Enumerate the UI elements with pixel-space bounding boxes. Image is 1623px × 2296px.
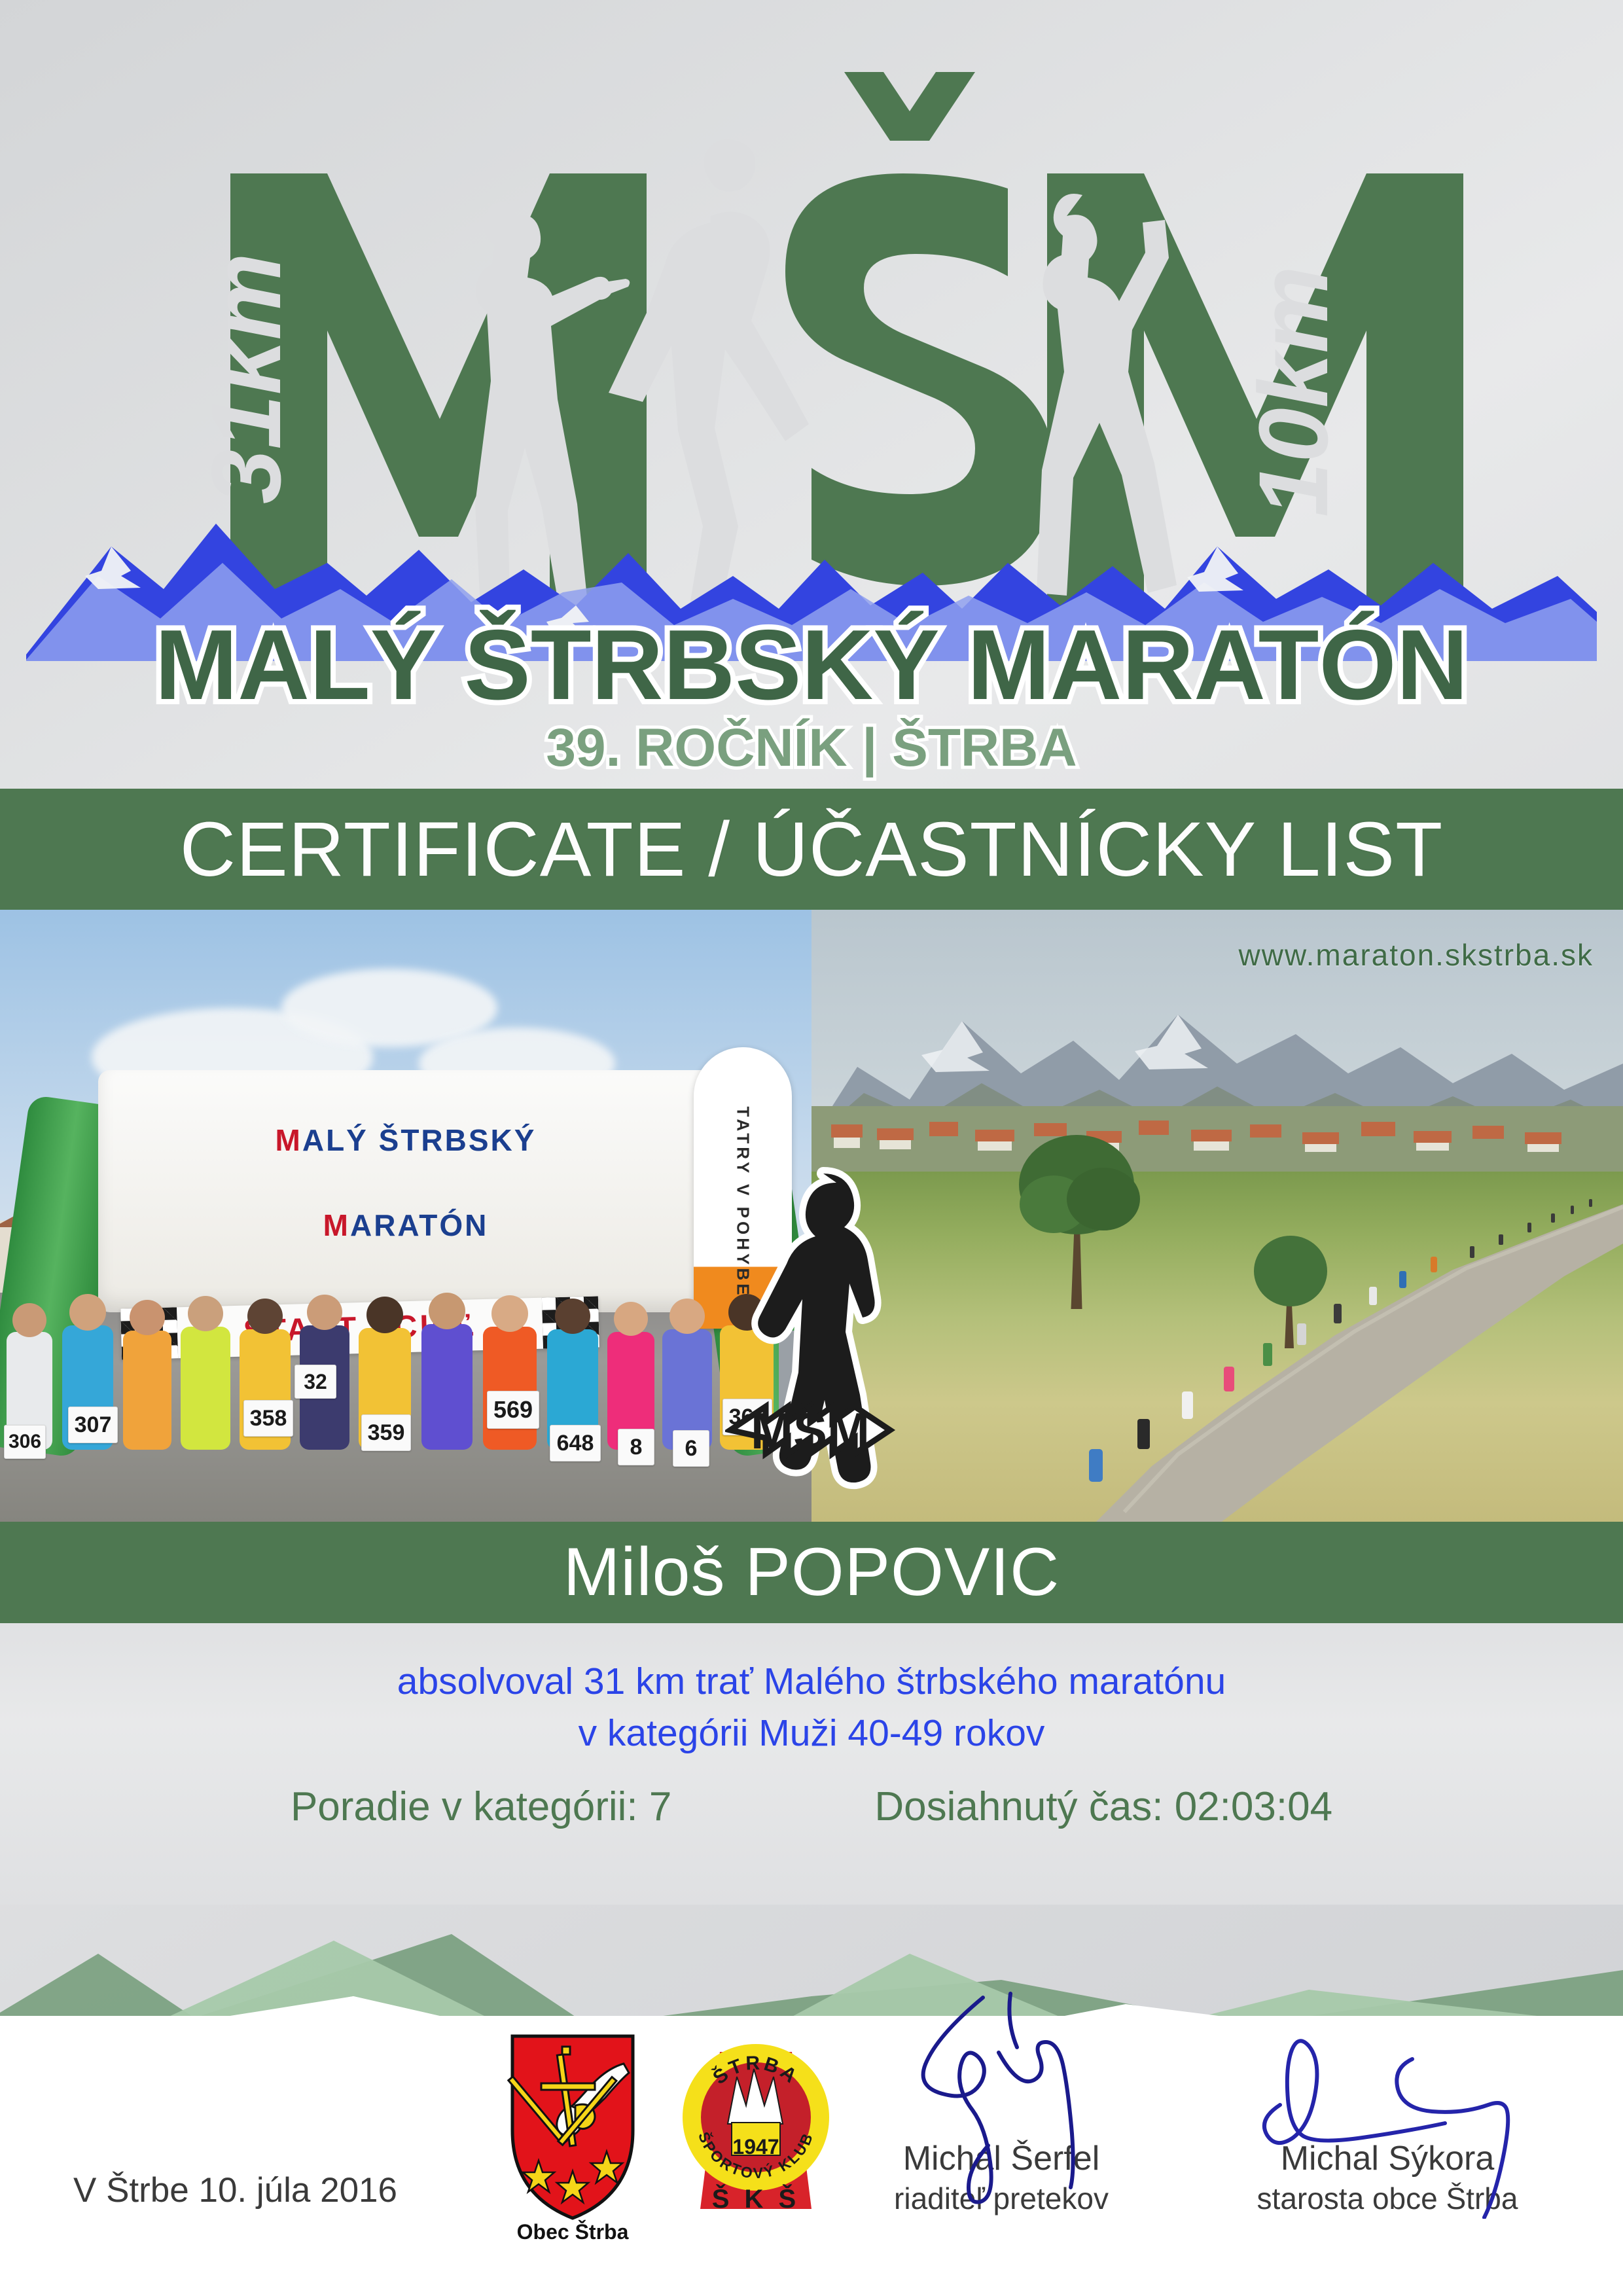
msm-runner-emblem: MŠM xyxy=(725,1162,921,1496)
event-logo-block: 31km 10km xyxy=(0,0,1623,789)
logo-letter-s-middle xyxy=(785,72,1054,586)
bib-number: 306 xyxy=(4,1425,46,1459)
signature-mark-mayor xyxy=(1230,2003,1544,2219)
tree-large xyxy=(1008,1113,1152,1309)
finish-time: Dosiahnutý čas: 02:03:04 xyxy=(874,1784,1332,1830)
club-initials: Š K Š xyxy=(712,2183,800,2214)
certificate-page: 31km 10km xyxy=(0,0,1623,2296)
obec-strba-coat-of-arms xyxy=(507,2032,638,2222)
bib-number: 8 xyxy=(618,1429,654,1465)
event-title-text: MALÝ ŠTRBSKÝ MARATÓN xyxy=(155,609,1469,721)
category-rank: Poradie v kategórii: 7 xyxy=(291,1784,671,1830)
logo-graphic: 31km 10km xyxy=(0,0,1623,789)
obec-strba-label: Obec Štrba xyxy=(507,2220,638,2244)
description-line-2: v kategórii Muži 40-49 rokov xyxy=(0,1708,1623,1759)
logo-distance-right-text: 10km xyxy=(1238,266,1348,517)
bib-number: 6 xyxy=(673,1430,709,1467)
arch-title-line1-accent: M xyxy=(276,1123,302,1157)
website-watermark: www.maraton.skstrba.sk xyxy=(1239,937,1594,973)
participant-name: Miloš POPOVIC xyxy=(563,1534,1060,1611)
bib-number: 307 xyxy=(68,1407,118,1443)
runner-crowd xyxy=(0,1247,811,1522)
bib-number: 648 xyxy=(550,1425,601,1462)
arch-title-line2: ARATÓN xyxy=(350,1208,488,1242)
certificate-title-band: CERTIFICATE / ÚČASTNÍCKY LIST xyxy=(0,789,1623,910)
bib-number: 358 xyxy=(243,1400,293,1437)
certificate-title-text: CERTIFICATE / ÚČASTNÍCKY LIST xyxy=(180,805,1443,894)
bib-number: 569 xyxy=(487,1391,539,1429)
club-year: 1947 xyxy=(732,2135,779,2159)
sks-club-logo: ŠTRBA ŠPORTOVÝ KLUB 1947 Š K Š xyxy=(681,2026,831,2222)
event-subtitle-text: 39. ROČNÍK | ŠTRBA xyxy=(546,718,1077,778)
participant-name-band: Miloš POPOVIC xyxy=(0,1522,1623,1623)
signature-mark-director xyxy=(870,1990,1145,2206)
tree-small xyxy=(1250,1217,1335,1348)
arch-title-line1: ALÝ ŠTRBSKÝ xyxy=(302,1123,537,1157)
description-line-1: absolvoval 31 km trať Malého štrbského m… xyxy=(0,1656,1623,1708)
logo-distance-left-text: 31km xyxy=(191,253,301,504)
running-trail xyxy=(811,1158,1623,1522)
photo-start-line: MALÝ ŠTRBSKÝ MARATÓN ŠTART - CIEĽ TATRY … xyxy=(0,910,811,1522)
msm-emblem-text: MŠM xyxy=(751,1402,870,1460)
place-and-date: V Štrbe 10. júla 2016 xyxy=(73,2170,397,2210)
participation-description: absolvoval 31 km trať Malého štrbského m… xyxy=(0,1656,1623,1759)
photo-tatra-landscape: www.maraton.skstrba.sk xyxy=(811,910,1623,1522)
arch-title-line2-accent: M xyxy=(323,1208,350,1242)
bib-number: 32 xyxy=(294,1365,336,1399)
result-area: absolvoval 31 km trať Malého štrbského m… xyxy=(0,1623,1623,1905)
result-stats: Poradie v kategórii: 7 Dosiahnutý čas: 0… xyxy=(0,1784,1623,1830)
bib-number: 359 xyxy=(361,1414,411,1451)
